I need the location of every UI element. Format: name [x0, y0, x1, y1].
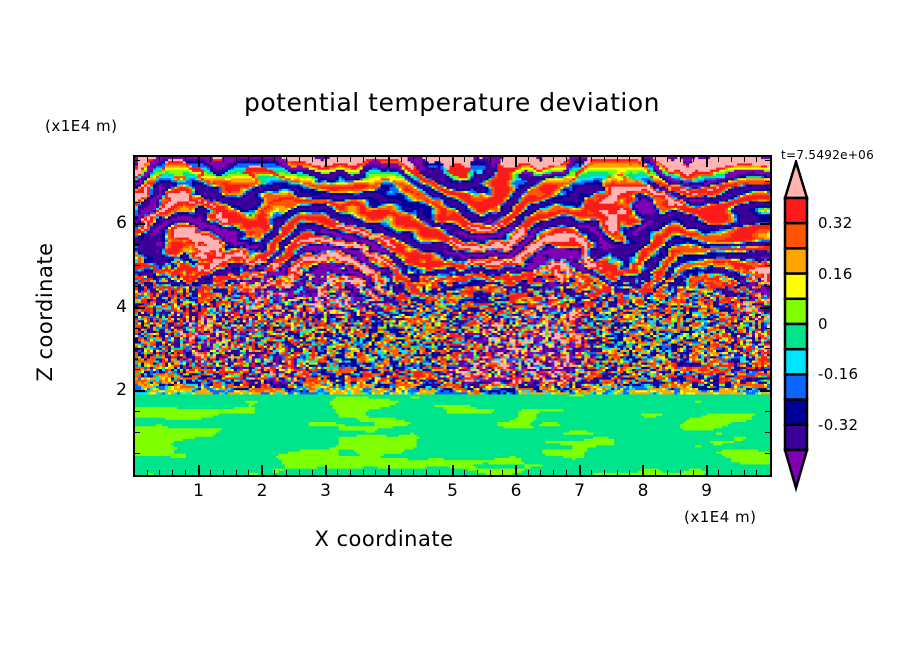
tick-mark — [617, 157, 618, 162]
tick-mark — [185, 470, 186, 475]
tick-mark — [540, 470, 541, 475]
tick-mark — [680, 470, 681, 475]
tick-mark — [744, 470, 745, 475]
tick-mark — [765, 286, 770, 287]
tick-mark — [528, 157, 529, 162]
tick-mark — [617, 470, 618, 475]
tick-mark — [490, 470, 491, 475]
tick-mark — [760, 223, 770, 225]
tick-mark — [591, 157, 592, 162]
tick-mark — [401, 470, 402, 475]
tick-mark — [274, 157, 275, 162]
x-tick-label: 8 — [628, 481, 658, 501]
tick-mark — [312, 470, 313, 475]
tick-mark — [325, 465, 327, 475]
tick-mark — [236, 470, 237, 475]
tick-mark — [502, 157, 503, 162]
tick-mark — [765, 160, 770, 161]
tick-mark — [363, 470, 364, 475]
tick-mark — [135, 432, 140, 433]
tick-mark — [210, 470, 211, 475]
tick-mark — [439, 470, 440, 475]
tick-mark — [439, 157, 440, 162]
tick-mark — [706, 465, 708, 475]
tick-mark — [286, 157, 287, 162]
tick-mark — [760, 307, 770, 309]
tick-mark — [718, 157, 719, 162]
tick-mark — [477, 470, 478, 475]
tick-mark — [579, 157, 581, 167]
tick-mark — [693, 157, 694, 162]
y-tick-label: 4 — [97, 297, 127, 317]
x-tick-label: 7 — [565, 481, 595, 501]
tick-mark — [731, 157, 732, 162]
tick-mark — [135, 265, 140, 266]
x-tick-label: 1 — [184, 481, 214, 501]
tick-mark — [591, 470, 592, 475]
tick-mark — [135, 181, 140, 182]
tick-mark — [248, 157, 249, 162]
tick-mark — [388, 465, 390, 475]
contour-plot-panel — [133, 155, 772, 477]
tick-mark — [765, 202, 770, 203]
x-tick-label: 6 — [501, 481, 531, 501]
tick-mark — [604, 157, 605, 162]
colorbar-tick-label: 0.16 — [818, 265, 853, 283]
tick-mark — [350, 470, 351, 475]
tick-mark — [274, 470, 275, 475]
scalar-field-image — [135, 157, 770, 475]
tick-mark — [553, 470, 554, 475]
y-tick-label: 6 — [97, 213, 127, 233]
tick-mark — [490, 157, 491, 162]
x-axis-title: X coordinate — [0, 527, 768, 551]
tick-mark — [299, 157, 300, 162]
tick-mark — [135, 223, 145, 225]
tick-mark — [765, 348, 770, 349]
tick-mark — [579, 465, 581, 475]
tick-mark — [744, 157, 745, 162]
tick-mark — [426, 470, 427, 475]
colorbar-tick-label: 0 — [818, 315, 828, 333]
tick-mark — [731, 470, 732, 475]
tick-mark — [375, 157, 376, 162]
tick-mark — [135, 202, 140, 203]
tick-mark — [375, 470, 376, 475]
tick-mark — [413, 470, 414, 475]
tick-mark — [388, 157, 390, 167]
tick-mark — [655, 470, 656, 475]
tick-mark — [452, 465, 454, 475]
tick-mark — [680, 157, 681, 162]
tick-mark — [756, 470, 757, 475]
colorbar-tick-label: -0.16 — [818, 365, 858, 383]
tick-mark — [464, 470, 465, 475]
tick-mark — [135, 286, 140, 287]
tick-mark — [765, 265, 770, 266]
tick-mark — [147, 470, 148, 475]
x-tick-label: 5 — [438, 481, 468, 501]
tick-mark — [135, 390, 145, 392]
tick-mark — [706, 157, 708, 167]
tick-mark — [667, 470, 668, 475]
tick-mark — [350, 157, 351, 162]
colorbar-tick-label: 0.32 — [818, 214, 853, 232]
tick-mark — [248, 470, 249, 475]
tick-mark — [502, 470, 503, 475]
tick-mark — [426, 157, 427, 162]
x-tick-label: 4 — [374, 481, 404, 501]
tick-mark — [135, 348, 140, 349]
tick-mark — [325, 157, 327, 167]
tick-mark — [413, 157, 414, 162]
tick-mark — [515, 465, 517, 475]
tick-mark — [363, 157, 364, 162]
tick-mark — [765, 369, 770, 370]
tick-mark — [765, 453, 770, 454]
tick-mark — [185, 157, 186, 162]
tick-mark — [756, 157, 757, 162]
tick-mark — [765, 328, 770, 329]
tick-mark — [172, 157, 173, 162]
tick-mark — [337, 470, 338, 475]
tick-mark — [172, 470, 173, 475]
tick-mark — [135, 244, 140, 245]
tick-mark — [135, 160, 140, 161]
page-title: potential temperature deviation — [0, 88, 904, 117]
tick-mark — [642, 157, 644, 167]
tick-mark — [337, 157, 338, 162]
tick-mark — [135, 369, 140, 370]
tick-mark — [159, 157, 160, 162]
tick-mark — [629, 470, 630, 475]
tick-mark — [477, 157, 478, 162]
tick-mark — [655, 157, 656, 162]
tick-mark — [765, 181, 770, 182]
tick-mark — [299, 470, 300, 475]
tick-mark — [765, 411, 770, 412]
tick-mark — [528, 470, 529, 475]
tick-mark — [629, 157, 630, 162]
tick-mark — [765, 432, 770, 433]
tick-mark — [604, 470, 605, 475]
tick-mark — [718, 470, 719, 475]
tick-mark — [760, 390, 770, 392]
tick-mark — [765, 244, 770, 245]
tick-mark — [223, 157, 224, 162]
tick-mark — [566, 470, 567, 475]
tick-mark — [401, 157, 402, 162]
tick-mark — [540, 157, 541, 162]
tick-mark — [135, 411, 140, 412]
tick-mark — [452, 157, 454, 167]
tick-mark — [198, 157, 200, 167]
tick-mark — [312, 157, 313, 162]
tick-mark — [667, 157, 668, 162]
tick-mark — [159, 470, 160, 475]
tick-mark — [515, 157, 517, 167]
tick-mark — [135, 307, 145, 309]
tick-mark — [642, 465, 644, 475]
colorbar-tick-label: -0.32 — [818, 416, 858, 434]
tick-mark — [566, 157, 567, 162]
x-tick-label: 9 — [692, 481, 722, 501]
tick-mark — [261, 157, 263, 167]
y-tick-label: 2 — [97, 380, 127, 400]
tick-mark — [286, 470, 287, 475]
x-unit-label: (x1E4 m) — [684, 508, 757, 526]
tick-mark — [198, 465, 200, 475]
tick-mark — [236, 157, 237, 162]
tick-mark — [223, 470, 224, 475]
tick-mark — [135, 453, 140, 454]
tick-mark — [693, 470, 694, 475]
tick-mark — [210, 157, 211, 162]
tick-mark — [464, 157, 465, 162]
colorbar: 0.320.160-0.16-0.32 — [780, 160, 904, 520]
tick-mark — [553, 157, 554, 162]
tick-mark — [135, 328, 140, 329]
x-tick-label: 2 — [247, 481, 277, 501]
tick-mark — [261, 465, 263, 475]
x-tick-label: 3 — [311, 481, 341, 501]
y-axis-title: Z coordinate — [33, 212, 57, 412]
tick-mark — [147, 157, 148, 162]
